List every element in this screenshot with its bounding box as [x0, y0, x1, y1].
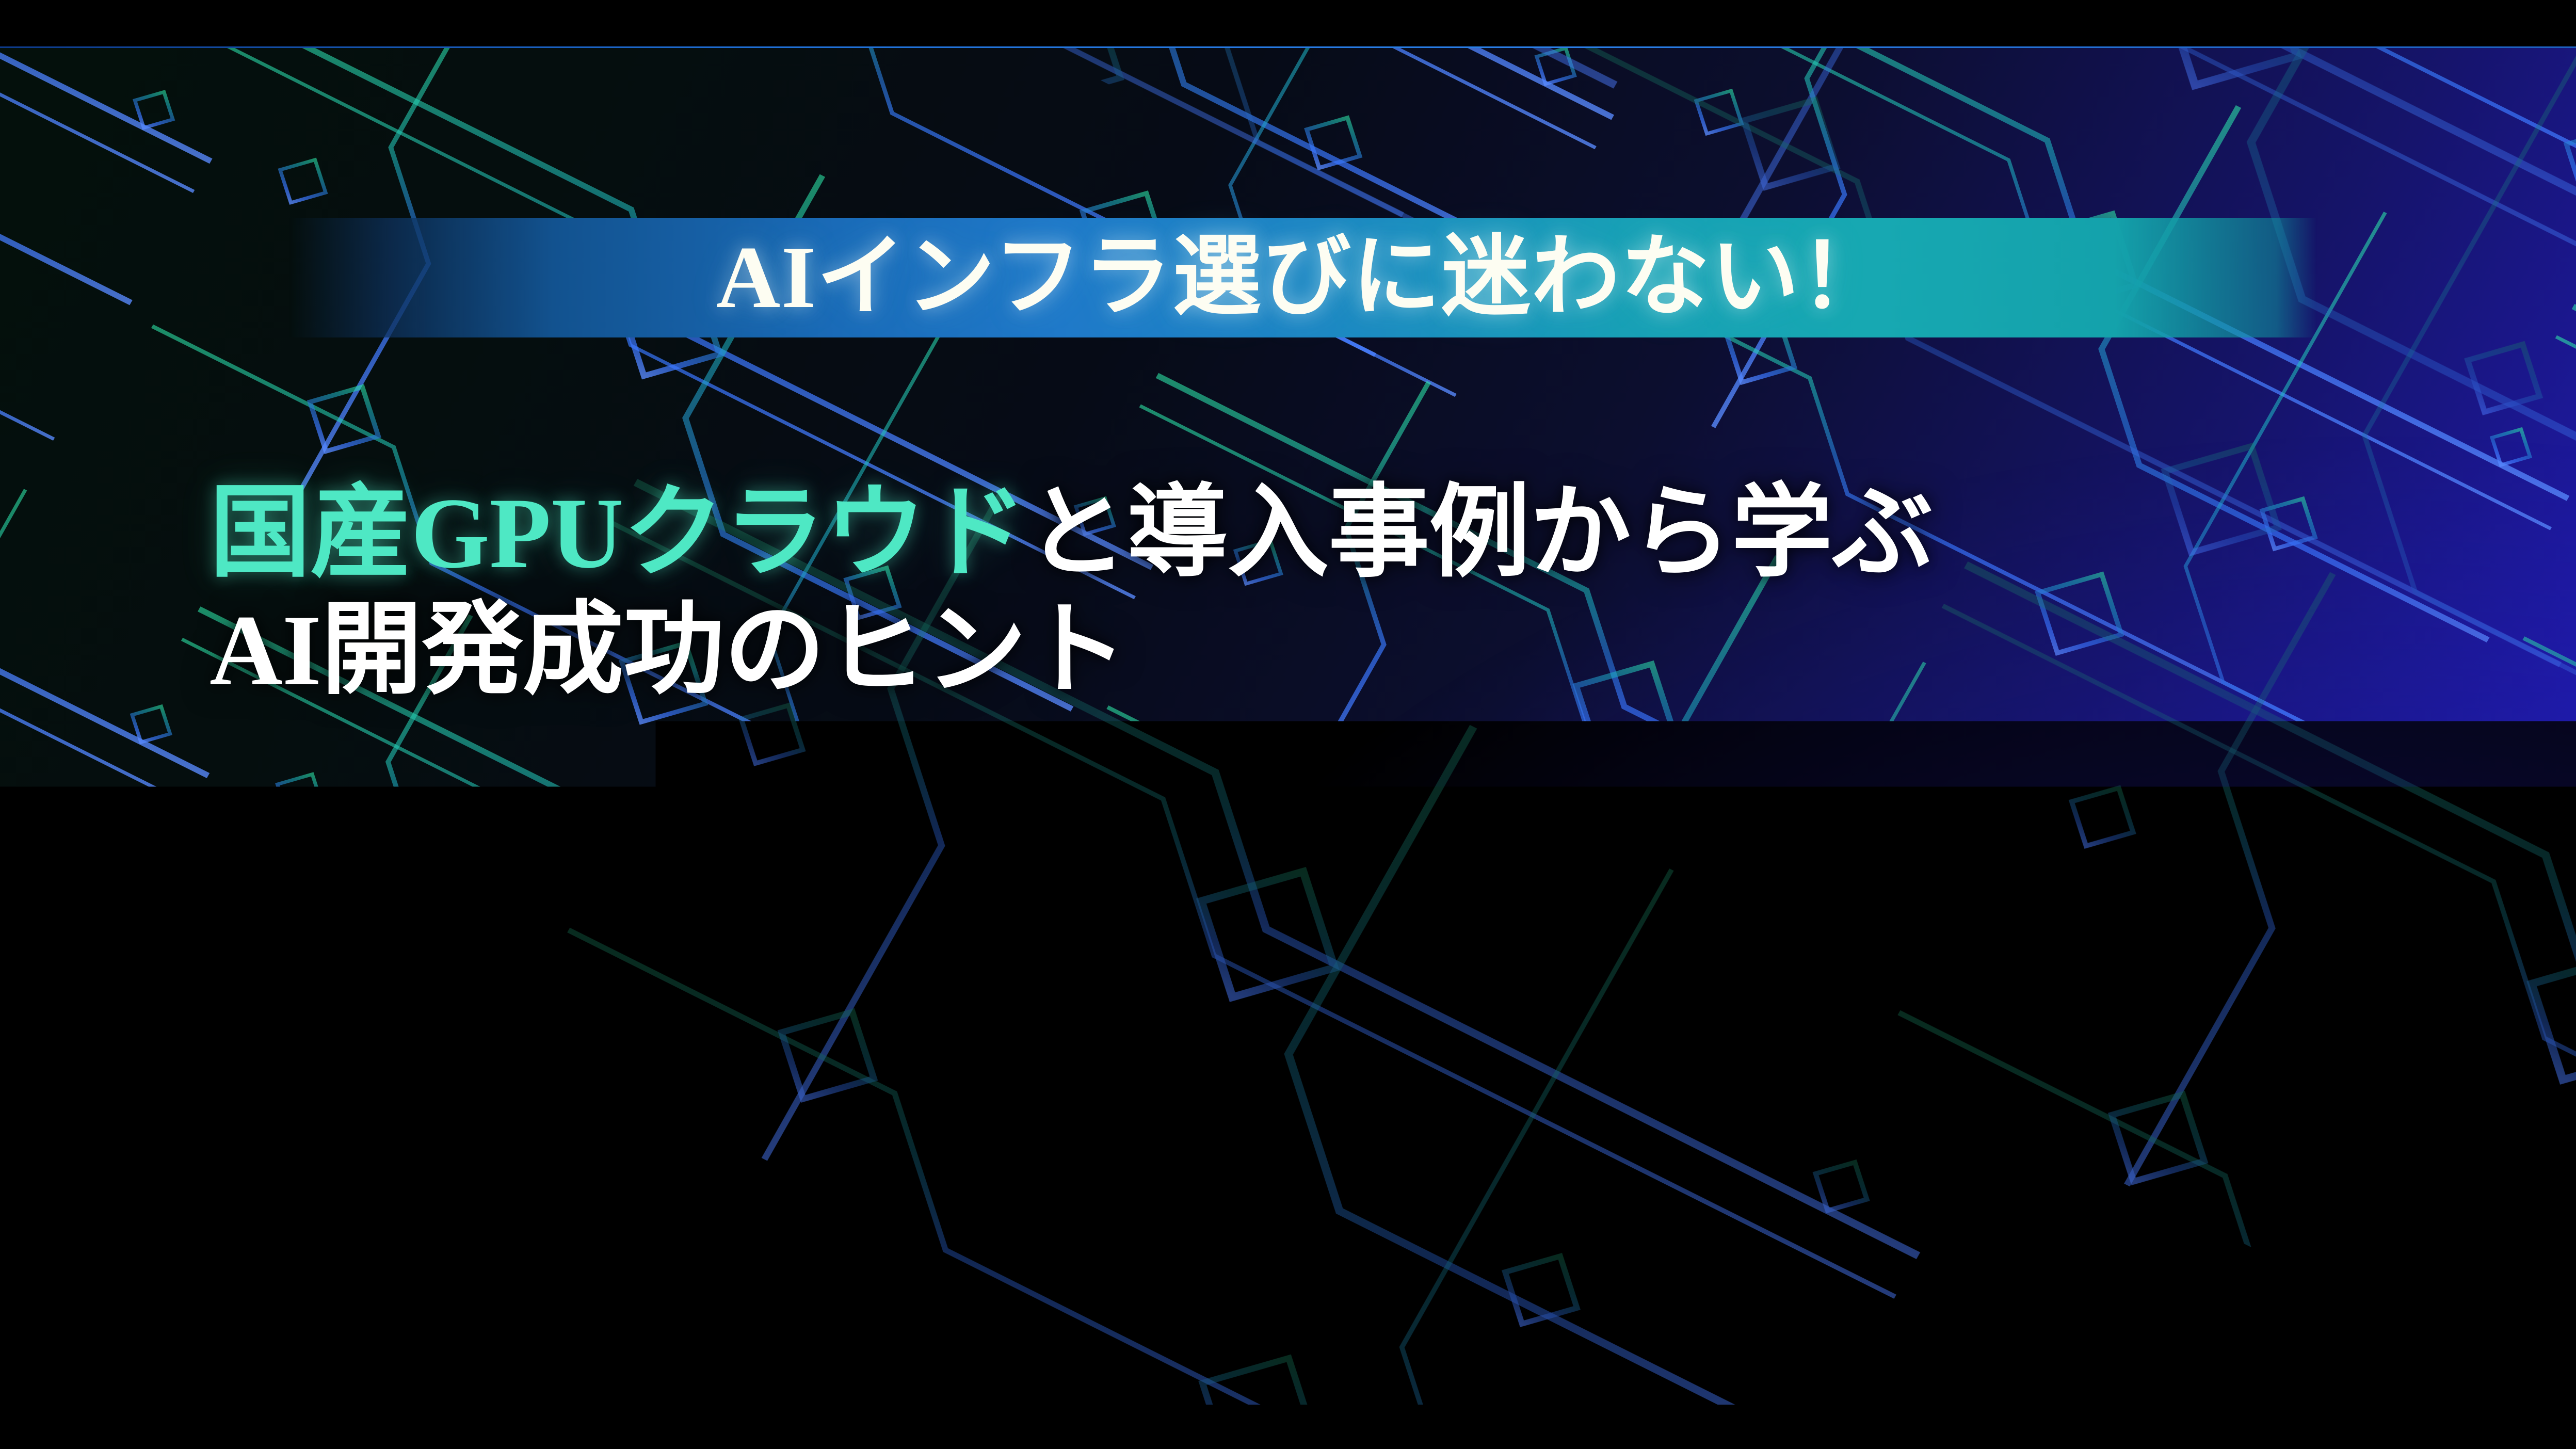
background-artwork: AIインフラ選びに迷わない！ 国産GPUクラウドと導入事例から学ぶ AI開発成功…	[0, 46, 2576, 1405]
brand-logo-text: SAKURA internet	[1062, 1130, 1607, 1198]
event-datetime: 2025.12.16 (火) 12:00-12:40	[210, 923, 1271, 1014]
headline-band: AIインフラ選びに迷わない！	[289, 218, 2317, 337]
letterbox-bar-top	[0, 0, 2576, 46]
event-info-row: 2025.12.16 (火) 12:00-12:40 オンライン開催	[210, 907, 2037, 1030]
brand-name-secondary: internet	[1365, 1126, 1607, 1202]
brand-name-primary: SAKURA	[1062, 1126, 1347, 1202]
letterbox-bar-bottom	[0, 1405, 2576, 1449]
brand-logo: SAKURA internet	[966, 1125, 1607, 1203]
title-line2: AI開発成功のヒント	[210, 592, 1933, 709]
headline-text: AIインフラ選びに迷わない！	[289, 218, 2317, 337]
title-accent-text: 国産GPUクラウド	[210, 477, 1026, 589]
status-badge: オンライン開催	[1338, 907, 2037, 1030]
promo-banner-stage: AIインフラ選びに迷わない！ 国産GPUクラウドと導入事例から学ぶ AI開発成功…	[0, 0, 2576, 1449]
title-line1-rest: と導入事例から学ぶ	[1026, 477, 1933, 589]
sakura-petal-mark-icon	[966, 1125, 1044, 1203]
page-title: 国産GPUクラウドと導入事例から学ぶ AI開発成功のヒント	[210, 475, 1933, 710]
